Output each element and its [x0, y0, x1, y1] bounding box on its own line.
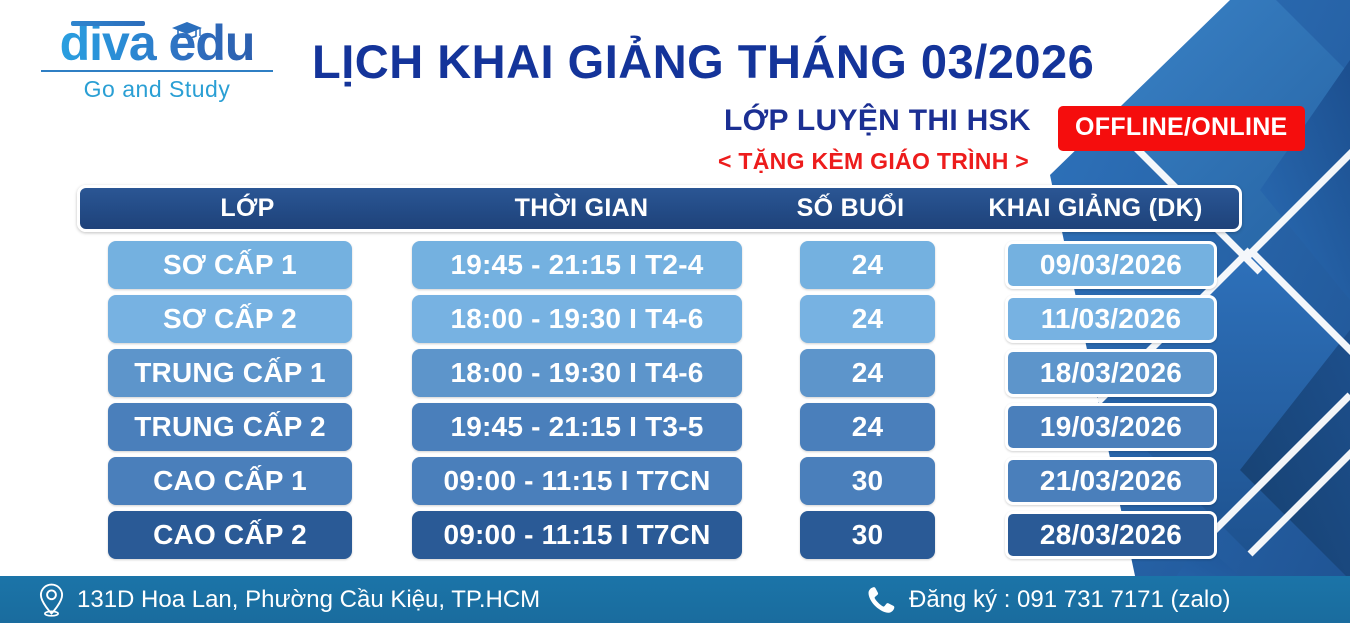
cell-spacer	[742, 403, 800, 451]
cell-khai-giang: 18/03/2026	[1005, 349, 1217, 397]
cell-lop: TRUNG CẤP 2	[108, 403, 352, 451]
cell-spacer	[935, 457, 1005, 505]
cell-thoi-gian: 18:00 - 19:30 I T4-6	[412, 295, 742, 343]
cell-khai-giang: 19/03/2026	[1005, 403, 1217, 451]
column-header-lop: LỚP	[80, 194, 415, 223]
brand-tagline: Go and Study	[22, 76, 292, 103]
footer-contact: Đăng ký : 091 731 7171 (zalo)	[866, 585, 1231, 615]
cell-so-buoi: 24	[800, 295, 935, 343]
column-header-so-buoi: SỐ BUỔI	[748, 194, 953, 223]
cell-spacer	[935, 241, 1005, 289]
schedule-table: LỚP THỜI GIAN SỐ BUỔI KHAI GIẢNG (DK) SƠ…	[77, 185, 1242, 565]
phone-icon	[866, 585, 896, 615]
table-header-row: LỚP THỜI GIAN SỐ BUỔI KHAI GIẢNG (DK)	[77, 185, 1242, 232]
cell-spacer	[352, 349, 412, 397]
cell-spacer	[742, 295, 800, 343]
column-header-thoi-gian: THỜI GIAN	[415, 194, 748, 223]
poster-canvas: diva edu Go and Study LỊCH KHAI GIẢNG TH…	[0, 0, 1350, 623]
cell-lop: CAO CẤP 2	[108, 511, 352, 559]
logo-dash-accent	[71, 21, 145, 26]
contact-text: Đăng ký : 091 731 7171 (zalo)	[909, 586, 1231, 614]
cell-spacer	[742, 511, 800, 559]
cell-spacer	[935, 349, 1005, 397]
cell-khai-giang: 28/03/2026	[1005, 511, 1217, 559]
cell-spacer	[352, 511, 412, 559]
cell-spacer	[352, 457, 412, 505]
cell-khai-giang: 11/03/2026	[1005, 295, 1217, 343]
table-row: TRUNG CẤP 118:00 - 19:30 I T4-62418/03/2…	[77, 349, 1242, 397]
footer-address: 131D Hoa Lan, Phường Cầu Kiệu, TP.HCM	[38, 583, 540, 617]
table-body: SƠ CẤP 119:45 - 21:15 I T2-42409/03/2026…	[77, 241, 1242, 559]
cell-thoi-gian: 18:00 - 19:30 I T4-6	[412, 349, 742, 397]
cell-so-buoi: 30	[800, 511, 935, 559]
address-text: 131D Hoa Lan, Phường Cầu Kiệu, TP.HCM	[77, 586, 540, 614]
table-row: CAO CẤP 209:00 - 11:15 I T7CN3028/03/202…	[77, 511, 1242, 559]
cell-khai-giang: 09/03/2026	[1005, 241, 1217, 289]
cell-lop: SƠ CẤP 2	[108, 295, 352, 343]
cell-spacer	[352, 295, 412, 343]
cell-lop: TRUNG CẤP 1	[108, 349, 352, 397]
cell-thoi-gian: 09:00 - 11:15 I T7CN	[412, 457, 742, 505]
cell-spacer	[352, 403, 412, 451]
cell-khai-giang: 21/03/2026	[1005, 457, 1217, 505]
cell-spacer	[935, 403, 1005, 451]
cell-spacer	[742, 241, 800, 289]
table-row: SƠ CẤP 218:00 - 19:30 I T4-62411/03/2026	[77, 295, 1242, 343]
graduation-cap-icon	[172, 22, 202, 38]
cell-thoi-gian: 19:45 - 21:15 I T3-5	[412, 403, 742, 451]
gift-note: < TẶNG KÈM GIÁO TRÌNH >	[718, 148, 1029, 175]
cell-so-buoi: 24	[800, 241, 935, 289]
brand-logo: diva edu Go and Study	[22, 18, 292, 128]
status-badge: OFFLINE/ONLINE	[1058, 106, 1305, 151]
page-subtitle: LỚP LUYỆN THI HSK	[724, 104, 1031, 138]
cell-spacer	[742, 349, 800, 397]
table-row: CAO CẤP 109:00 - 11:15 I T7CN3021/03/202…	[77, 457, 1242, 505]
table-row: TRUNG CẤP 219:45 - 21:15 I T3-52419/03/2…	[77, 403, 1242, 451]
cell-spacer	[352, 241, 412, 289]
cell-spacer	[935, 295, 1005, 343]
cell-thoi-gian: 19:45 - 21:15 I T2-4	[412, 241, 742, 289]
cell-spacer	[935, 511, 1005, 559]
cell-lop: CAO CẤP 1	[108, 457, 352, 505]
cell-so-buoi: 24	[800, 349, 935, 397]
cell-spacer	[742, 457, 800, 505]
cell-lop: SƠ CẤP 1	[108, 241, 352, 289]
footer-bar: 131D Hoa Lan, Phường Cầu Kiệu, TP.HCM Đă…	[0, 576, 1350, 623]
cell-so-buoi: 30	[800, 457, 935, 505]
table-row: SƠ CẤP 119:45 - 21:15 I T2-42409/03/2026	[77, 241, 1242, 289]
location-pin-icon	[38, 583, 65, 617]
cell-thoi-gian: 09:00 - 11:15 I T7CN	[412, 511, 742, 559]
page-title: LỊCH KHAI GIẢNG THÁNG 03/2026	[312, 34, 1094, 89]
cell-so-buoi: 24	[800, 403, 935, 451]
column-header-khai-giang: KHAI GIẢNG (DK)	[953, 194, 1238, 223]
